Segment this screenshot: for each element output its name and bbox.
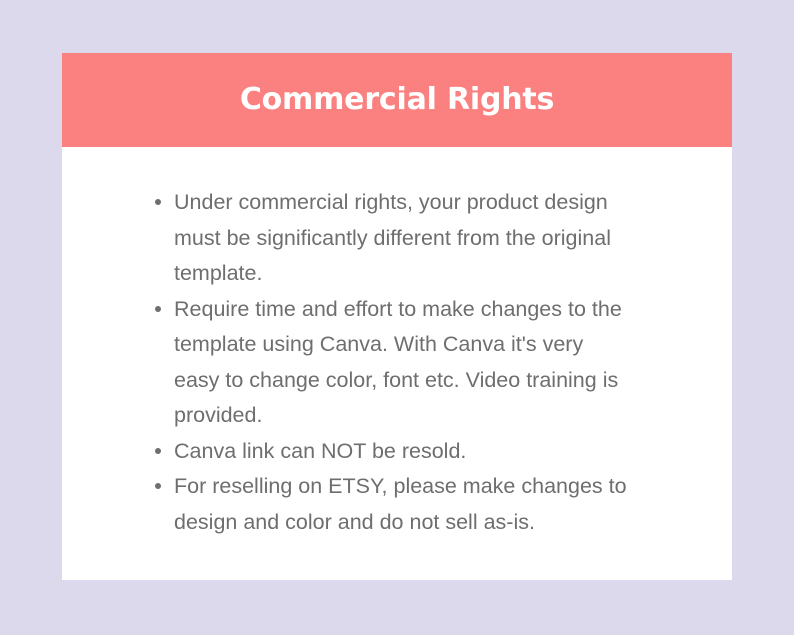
card-header-banner: Commercial Rights bbox=[62, 53, 732, 147]
bullet-dot-icon bbox=[155, 199, 161, 205]
rights-bullet-list: Under commercial rights, your product de… bbox=[152, 185, 632, 540]
list-item-text: Canva link can NOT be resold. bbox=[174, 439, 466, 463]
page-title: Commercial Rights bbox=[240, 85, 554, 115]
list-item-text: Under commercial rights, your product de… bbox=[174, 190, 611, 285]
list-item-text: For reselling on ETSY, please make chang… bbox=[174, 474, 627, 534]
card-body: Under commercial rights, your product de… bbox=[62, 147, 732, 580]
page-canvas: Commercial Rights Under commercial right… bbox=[0, 0, 794, 635]
commercial-rights-card: Commercial Rights Under commercial right… bbox=[62, 53, 732, 580]
list-item-text: Require time and effort to make changes … bbox=[174, 297, 622, 428]
list-item: Under commercial rights, your product de… bbox=[152, 185, 632, 292]
bullet-dot-icon bbox=[155, 306, 161, 312]
list-item: For reselling on ETSY, please make chang… bbox=[152, 469, 632, 540]
bullet-dot-icon bbox=[155, 483, 161, 489]
bullet-dot-icon bbox=[155, 448, 161, 454]
list-item: Require time and effort to make changes … bbox=[152, 292, 632, 434]
list-item: Canva link can NOT be resold. bbox=[152, 434, 632, 470]
